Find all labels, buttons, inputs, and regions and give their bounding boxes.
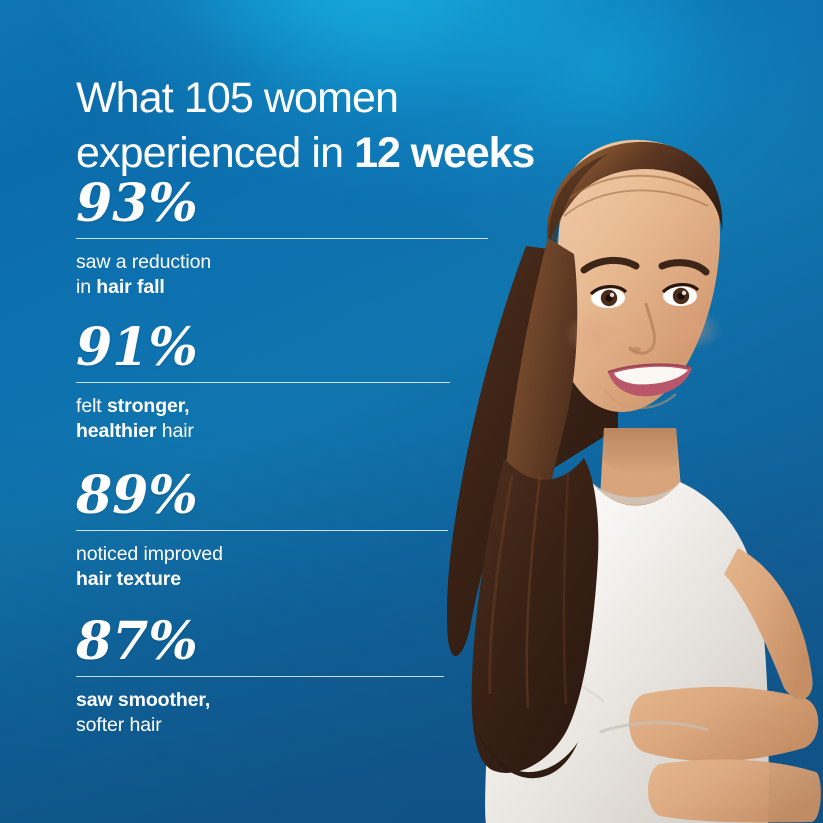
stat-caption-4: saw smoother, softer hair [76, 688, 396, 738]
stat-caption-3: noticed improved hair texture [76, 542, 396, 592]
stat-caption-2: felt stronger, healthier hair [76, 394, 396, 444]
stat-1-line1: saw a reduction [76, 251, 211, 273]
stat-divider-4 [76, 676, 444, 677]
stat-caption-1: saw a reduction in hair fall [76, 250, 396, 300]
content-layer: What 105 women experienced in 12 weeks 9… [0, 0, 823, 823]
stat-percent-1: 93% [76, 176, 488, 232]
stat-2-line2-bold: healthier [76, 420, 156, 442]
stat-percent-3: 89% [76, 468, 448, 524]
page-title: What 105 women experienced in 12 weeks [76, 71, 576, 181]
stat-4-line1-bold: saw smoother, [76, 689, 210, 711]
stat-1-line2-regular: in [76, 276, 96, 298]
stat-block-2: 91% felt stronger, healthier hair [76, 320, 450, 444]
stat-divider-2 [76, 382, 450, 383]
headline-line-2-regular: experienced in [76, 129, 354, 177]
stat-1-line2-bold: hair fall [96, 276, 164, 298]
stat-block-4: 87% saw smoother, softer hair [76, 614, 444, 738]
stat-percent-2: 91% [76, 320, 450, 376]
headline-line-1: What 105 women [76, 74, 398, 122]
stat-3-line1: noticed improved [76, 543, 223, 565]
stat-4-line2: softer hair [76, 714, 162, 736]
stat-block-3: 89% noticed improved hair texture [76, 468, 448, 592]
infographic-root: What 105 women experienced in 12 weeks 9… [0, 0, 823, 823]
stat-2-line1-bold: stronger, [107, 395, 190, 417]
stat-block-1: 93% saw a reduction in hair fall [76, 176, 488, 300]
stat-percent-4: 87% [76, 614, 444, 670]
headline-line-2-bold: 12 weeks [354, 129, 534, 177]
stat-divider-3 [76, 530, 448, 531]
stat-2-line1-regular: felt [76, 395, 107, 417]
stat-3-line2-bold: hair texture [76, 568, 181, 590]
stat-2-line2-regular: hair [156, 420, 193, 442]
stat-divider-1 [76, 238, 488, 239]
